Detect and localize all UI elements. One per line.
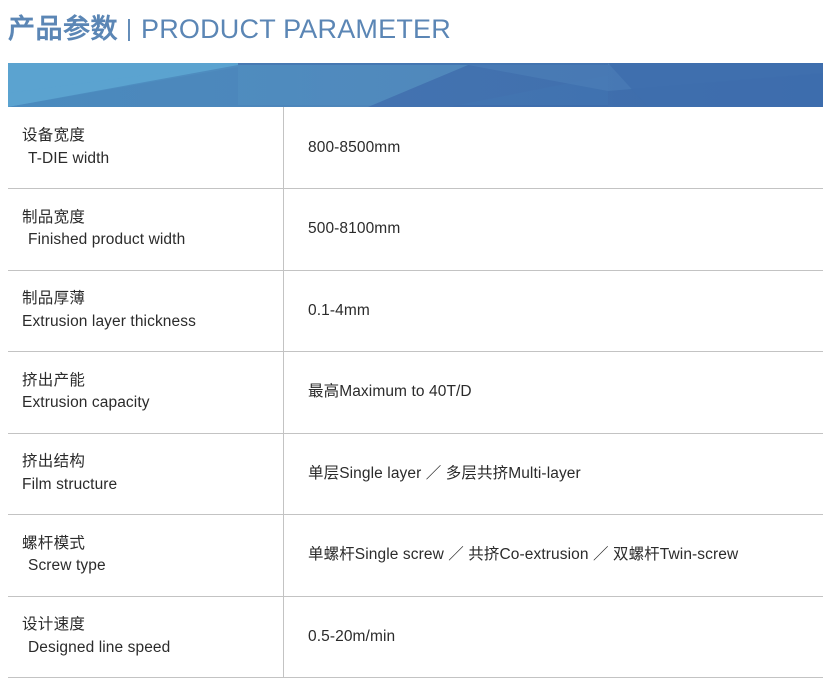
row-label-cell: 设计速度 Designed line speed (8, 596, 284, 678)
table-row: 螺杆模式 Screw type 单螺杆Single screw ／ 共挤Co-e… (8, 515, 823, 597)
banner-graphic (8, 63, 823, 107)
label-english: Extrusion capacity (22, 392, 283, 414)
row-value-cell: 0.1-4mm (284, 270, 824, 352)
label-english: T-DIE width (22, 148, 283, 170)
row-label-cell: 制品宽度 Finished product width (8, 189, 284, 271)
row-label-cell: 挤出结构 Film structure (8, 433, 284, 515)
row-label-cell: 螺杆模式 Screw type (8, 515, 284, 597)
page-title-separator: | (126, 17, 132, 40)
row-label-cell: 制品厚薄 Extrusion layer thickness (8, 270, 284, 352)
row-value-cell: 800-8500mm (284, 107, 824, 189)
parameter-value: 500-8100mm (308, 218, 823, 240)
table-body: 设备宽度 T-DIE width 800-8500mm 制品宽度 Finishe… (8, 107, 823, 678)
row-label-cell: 挤出产能 Extrusion capacity (8, 352, 284, 434)
label-english: Film structure (22, 474, 283, 496)
table-row: 制品厚薄 Extrusion layer thickness 0.1-4mm (8, 270, 823, 352)
table-row: 挤出产能 Extrusion capacity 最高Maximum to 40T… (8, 352, 823, 434)
parameter-value: 800-8500mm (308, 137, 823, 159)
table-row: 设计速度 Designed line speed 0.5-20m/min (8, 596, 823, 678)
label-chinese: 螺杆模式 (22, 533, 283, 555)
faceted-blue-banner (8, 63, 823, 107)
product-parameter-table: 设备宽度 T-DIE width 800-8500mm 制品宽度 Finishe… (8, 107, 823, 678)
row-value-cell: 0.5-20m/min (284, 596, 824, 678)
row-value-cell: 500-8100mm (284, 189, 824, 271)
table-row: 设备宽度 T-DIE width 800-8500mm (8, 107, 823, 189)
parameter-value: 0.5-20m/min (308, 626, 823, 648)
label-chinese: 制品宽度 (22, 207, 283, 229)
label-english: Designed line speed (22, 637, 283, 659)
table-row: 制品宽度 Finished product width 500-8100mm (8, 189, 823, 271)
parameter-value: 0.1-4mm (308, 300, 823, 322)
row-value-cell: 单螺杆Single screw ／ 共挤Co-extrusion ／ 双螺杆Tw… (284, 515, 824, 597)
page-title-english: PRODUCT PARAMETER (141, 16, 451, 43)
product-parameter-page: 产品参数 | PRODUCT PARAMETER (0, 0, 830, 697)
label-chinese: 挤出产能 (22, 370, 283, 392)
label-chinese: 挤出结构 (22, 451, 283, 473)
parameter-value: 单层Single layer ／ 多层共挤Multi-layer (308, 463, 823, 485)
label-chinese: 设计速度 (22, 614, 283, 636)
parameter-value: 最高Maximum to 40T/D (308, 381, 823, 403)
page-title-chinese: 产品参数 (8, 16, 118, 43)
label-english: Finished product width (22, 229, 283, 251)
row-value-cell: 单层Single layer ／ 多层共挤Multi-layer (284, 433, 824, 515)
label-english: Screw type (22, 555, 283, 577)
label-english: Extrusion layer thickness (22, 311, 283, 333)
row-label-cell: 设备宽度 T-DIE width (8, 107, 284, 189)
label-chinese: 制品厚薄 (22, 288, 283, 310)
table-row: 挤出结构 Film structure 单层Single layer ／ 多层共… (8, 433, 823, 515)
row-value-cell: 最高Maximum to 40T/D (284, 352, 824, 434)
page-title: 产品参数 | PRODUCT PARAMETER (8, 9, 451, 49)
label-chinese: 设备宽度 (22, 125, 283, 147)
parameter-value: 单螺杆Single screw ／ 共挤Co-extrusion ／ 双螺杆Tw… (308, 544, 823, 566)
